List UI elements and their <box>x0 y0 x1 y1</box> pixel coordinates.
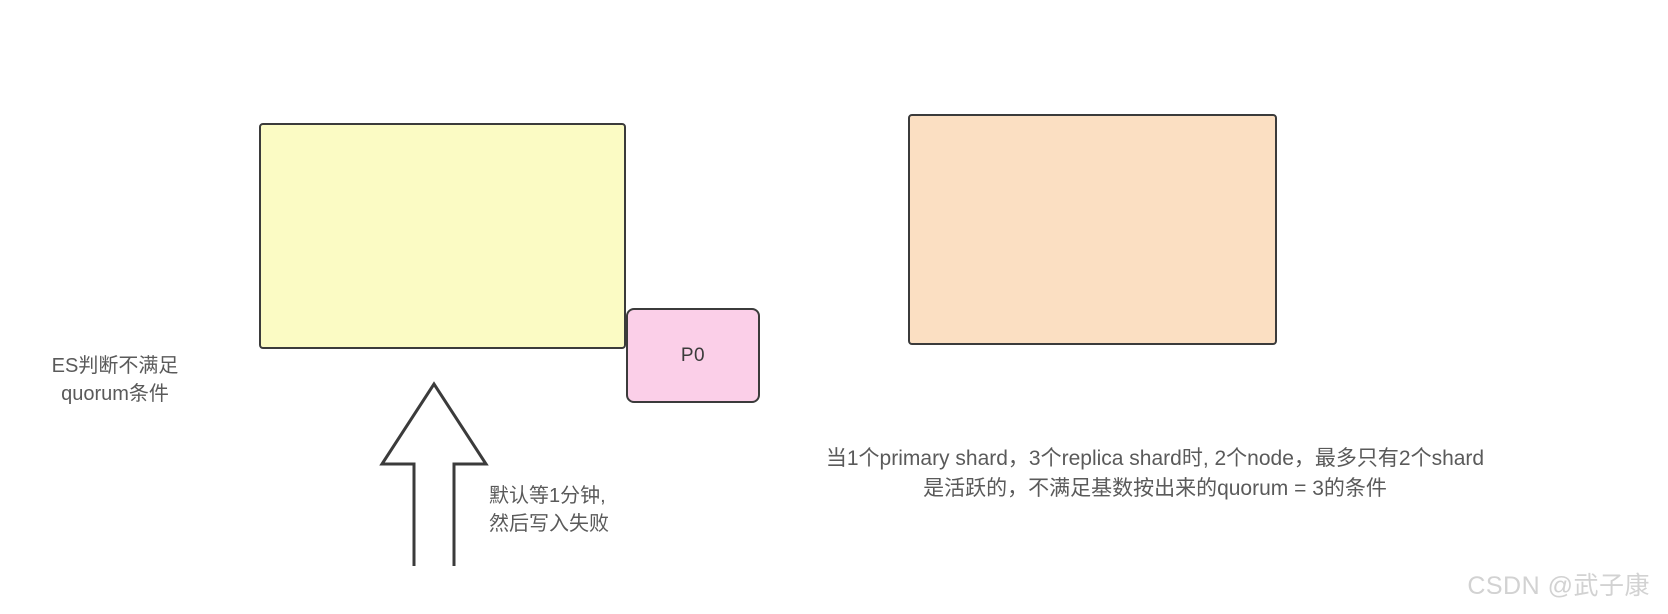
node-box-left: P0 <box>259 123 626 349</box>
node-box-right: R0-1 <box>908 114 1277 345</box>
watermark: CSDN @武子康 <box>1467 566 1650 602</box>
explanation-note: 当1个primary shard，3个replica shard时, 2个nod… <box>760 444 1550 505</box>
primary-shard-box: P0 <box>626 308 760 403</box>
primary-shard-label: P0 <box>681 345 705 367</box>
up-arrow-icon <box>378 376 490 566</box>
diagram-canvas: P0 R0-1 ES判断不满足 quorum条件 默认等1分钟, 然后写入失败 … <box>0 0 1668 614</box>
arrow-caption-note: 默认等1分钟, 然后写入失败 <box>489 482 659 539</box>
quorum-fail-note: ES判断不满足 quorum条件 <box>20 352 210 409</box>
